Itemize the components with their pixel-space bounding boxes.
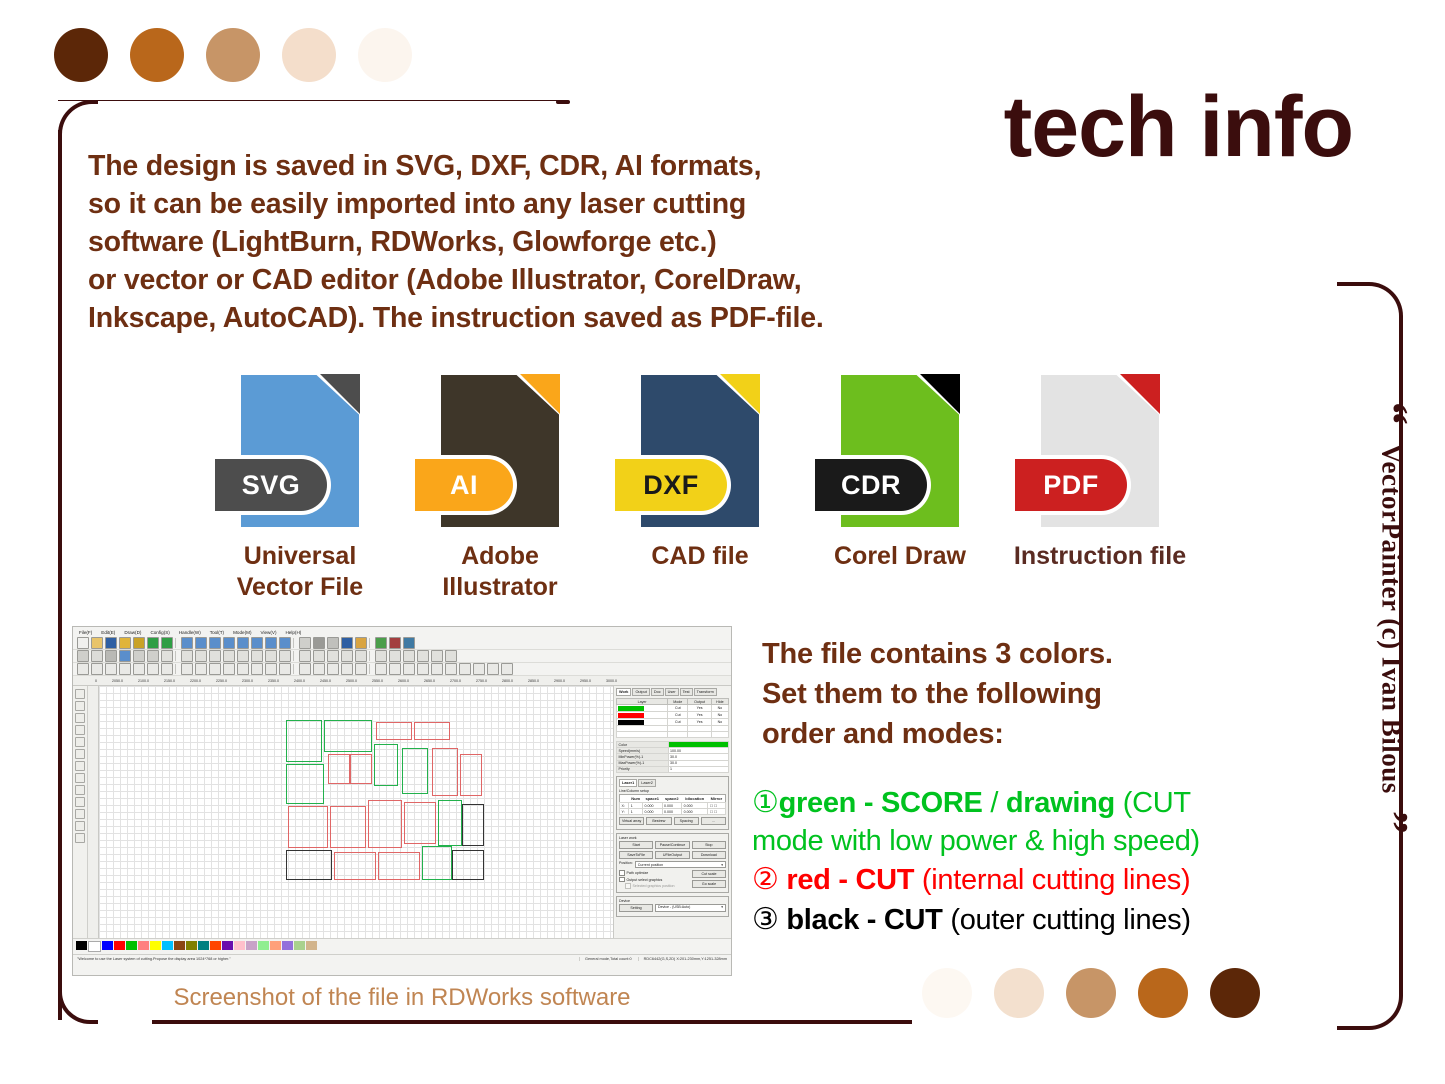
intro-line: or vector or CAD editor (Adobe Illustrat… [88,262,968,300]
toolbar-button[interactable] [195,637,207,649]
menu-item[interactable]: Edit(E) [101,630,115,635]
toolbar-button[interactable] [389,637,401,649]
menu-item[interactable]: Handle(W) [179,630,201,635]
color-mode-item: ② red - CUT (internal cutting lines) [752,860,1352,900]
layer-hide-cell[interactable]: No [711,712,728,719]
toolbar-button[interactable] [313,663,325,675]
toolbar-button[interactable] [209,650,221,662]
cut-scale-button[interactable]: Cut scale [692,870,726,878]
palette-color[interactable] [162,941,173,950]
axis-header [620,794,629,802]
menu-item[interactable]: File(F) [79,630,92,635]
intro-line: The design is saved in SVG, DXF, CDR, AI… [88,148,968,186]
quote-close-icon: ” [1373,811,1410,834]
canvas-tool-button[interactable] [75,821,85,831]
layer-table[interactable]: LayerModeOutputHide CutYesNoCutYesNoCutY… [616,698,729,738]
instructions-heading-line: Set them to the following [762,674,1362,714]
toolbar-separator [175,638,179,648]
palette-dot [1066,968,1116,1018]
file-format-label-line: Corel Draw [834,541,966,572]
rdworks-canvas[interactable] [99,686,613,938]
device-select[interactable]: Device - (USB:Auto)▾ [655,904,726,912]
palette-color[interactable] [88,941,101,952]
cdr-file-icon: CDR [841,375,959,527]
file-format-label: CAD file [651,541,748,572]
layer-color-swatch[interactable] [618,720,644,725]
toolbar-button[interactable] [237,637,249,649]
file-format-item: DXFCAD file [600,375,800,602]
toolbar-button[interactable] [105,637,117,649]
toolbar-button[interactable] [223,650,235,662]
selected-graphics-label: Selected graphics position [633,884,675,888]
toolbar-button[interactable] [313,637,325,649]
file-format-label-line: Vector File [237,572,363,603]
palette-color[interactable] [174,941,185,950]
canvas-tool-button[interactable] [75,809,85,819]
artwork-shape [422,846,452,880]
order-number: ③ [752,903,779,936]
work-button-start[interactable]: Start [619,841,653,849]
toolbar-button[interactable] [133,637,145,649]
canvas-tool-button[interactable] [75,785,85,795]
layer-properties-table[interactable]: Color Speed(mm/s)100.00MinPower(%)-130.0… [616,741,729,773]
frame-top-cap [556,100,570,104]
color-mode-item: ③ black - CUT (outer cutting lines) [752,900,1352,940]
toolbar-button[interactable] [223,637,235,649]
toolbar-button[interactable] [355,663,367,675]
screenshot-caption: Screenshot of the file in RDWorks softwa… [72,984,732,1012]
output-select-label: Output select graphics [627,878,663,882]
work-button-ufileoutput[interactable]: UFileOutput [655,851,689,859]
path-optimize-checkbox[interactable]: Path optimize [619,870,689,876]
toolbar-button[interactable] [161,637,173,649]
palette-dot [358,28,412,82]
output-select-graphics-checkbox[interactable]: Output select graphics [619,877,689,883]
rdworks-toolbar-draw[interactable] [73,650,731,663]
ruler-tick: 2600.0 [398,679,409,683]
palette-color[interactable] [222,941,233,950]
toolbar-button[interactable] [327,663,339,675]
toolbar-button[interactable] [181,663,193,675]
palette-color[interactable] [138,941,149,950]
toolbar-button[interactable] [77,650,89,662]
linecolumn-bilocation-cell[interactable]: 0.000 [682,809,708,815]
canvas-tool-button[interactable] [75,773,85,783]
layer-row[interactable]: CutYesNo [617,705,729,712]
ruler-tick: 2350.0 [268,679,279,683]
artwork-shape [432,748,458,796]
palette-color[interactable] [198,941,209,950]
toolbar-button[interactable] [403,650,415,662]
rdworks-vertical-ruler [88,686,99,938]
design-artwork[interactable] [284,714,484,849]
line-column-title: Line/Column setup [619,789,726,793]
toolbar-button[interactable] [389,663,401,675]
linecolumn-button[interactable]: Spacing [674,817,699,825]
toolbar-button[interactable] [181,650,193,662]
artwork-shape [402,748,428,794]
palette-color[interactable] [234,941,245,950]
toolbar-button[interactable] [105,650,117,662]
linecolumn-header: bilocation [682,794,708,802]
go-scale-button[interactable]: Go scale [692,880,726,888]
layer-mode-cell[interactable]: Cut [668,712,688,719]
toolbar-button[interactable] [265,637,277,649]
rdworks-horizontal-ruler: 02050.02100.02150.02200.02250.02300.0235… [73,676,731,686]
device-panel[interactable]: Device Setting Device - (USB:Auto)▾ [616,896,729,917]
layer-output-cell[interactable]: Yes [688,712,711,719]
toolbar-button[interactable] [431,663,443,675]
property-value[interactable]: 1 [668,766,728,772]
toolbar-button[interactable] [445,650,457,662]
linecolumn-header: space2 [662,794,682,802]
toolbar-button[interactable] [355,637,367,649]
artwork-shape [328,754,350,784]
linecolumn-header: Num [629,794,643,802]
credit-sidebar: “ VectorPainter (c) Ivan Bilous ” [1371,318,1411,918]
mode-note: (outer cutting lines) [943,904,1191,936]
toolbar-button[interactable] [265,663,277,675]
toolbar-separator [369,664,373,674]
palette-dot [130,28,184,82]
svg-file-icon: SVG [241,375,359,527]
intro-line: software (LightBurn, RDWorks, Glowforge … [88,224,968,262]
toolbar-button[interactable] [119,663,131,675]
mirror-checkboxes[interactable]: ☐ ☐ [708,809,726,815]
palette-color[interactable] [246,941,257,950]
palette-dot [1138,968,1188,1018]
frame-bottom-edge [152,1020,912,1024]
toolbar-button[interactable] [341,637,353,649]
toolbar-button[interactable] [501,663,513,675]
ruler-tick: 2850.0 [528,679,539,683]
canvas-tool-button[interactable] [75,833,85,843]
selected-graphics-position-checkbox[interactable]: Selected graphics position [619,883,689,889]
instructions-heading-line: The file contains 3 colors. [762,634,1362,674]
toolbar-button[interactable] [181,637,193,649]
palette-color[interactable] [114,941,125,950]
toolbar-button[interactable] [265,650,277,662]
canvas-tool-button[interactable] [75,701,85,711]
toolbar-button[interactable] [119,650,131,662]
work-button-download[interactable]: Download [692,851,726,859]
canvas-tool-button[interactable] [75,725,85,735]
ruler-tick: 2900.0 [554,679,565,683]
toolbar-button[interactable] [237,650,249,662]
artwork-shape [460,754,482,796]
layer-mode-cell[interactable]: Cut [668,705,688,712]
toolbar-button[interactable] [279,637,291,649]
artwork-shape [350,754,372,784]
pdf-file-icon: PDF [1041,375,1159,527]
ruler-tick: 2050.0 [112,679,123,683]
line-column-table[interactable]: Numspace1space2bilocationMirror X:10.000… [619,794,726,815]
toolbar-button[interactable] [105,663,117,675]
toolbar-separator [293,638,297,648]
work-button-savetofile[interactable]: SaveToFile [619,851,653,859]
artwork-shape [286,850,332,880]
linecolumn-axis-cell[interactable]: Y: [620,809,629,815]
toolbar-button[interactable] [375,637,387,649]
rdworks-statusbar: "Welcome to use the Laser system of cutt… [73,954,731,962]
layer-color-swatch[interactable] [618,706,644,711]
rdworks-toolbar-main[interactable] [73,637,731,650]
color-mode-item-continued: mode with low power & high speed) [752,823,1352,861]
toolbar-button[interactable] [237,663,249,675]
palette-color[interactable] [210,941,221,950]
line-column-setup-panel[interactable]: Laser1Laser2 Line/Column setup Numspace1… [616,776,729,830]
palette-dot [1210,968,1260,1018]
menu-item[interactable]: Config(S) [150,630,169,635]
menu-item[interactable]: Draw(D) [124,630,141,635]
toolbar-button[interactable] [209,663,221,675]
layer-row-empty [617,732,729,738]
intro-paragraph: The design is saved in SVG, DXF, CDR, AI… [88,148,968,337]
toolbar-button[interactable] [251,637,263,649]
file-extension-badge: SVG [215,459,327,511]
menu-item[interactable]: Tool(T) [210,630,224,635]
linecolumn-num-cell[interactable]: 1 [629,809,643,815]
file-format-item: SVGUniversalVector File [200,375,400,602]
toolbar-button[interactable] [417,663,429,675]
rdworks-right-panel[interactable]: WorkOutputDocUserTestTransform LayerMode… [613,686,731,938]
frame-top-edge [58,100,568,101]
panel-tab-test[interactable]: Test [680,688,693,696]
laser-tab-1[interactable]: Laser1 [619,779,637,787]
ruler-tick: 2650.0 [424,679,435,683]
toolbar-button[interactable] [91,650,103,662]
canvas-tool-button[interactable] [75,797,85,807]
canvas-tool-button[interactable] [75,689,85,699]
rdworks-panel-tabs[interactable]: WorkOutputDocUserTestTransform [616,688,729,696]
file-format-label-line: Universal [237,541,363,572]
artwork-shape [462,804,484,846]
intro-line: Inkscape, AutoCAD). The instruction save… [88,300,968,338]
toolbar-button[interactable] [251,650,263,662]
linecolumn-header: space1 [642,794,662,802]
toolbar-button[interactable] [445,663,457,675]
layer-output-cell[interactable]: Yes [688,719,711,726]
toolbar-button[interactable] [195,663,207,675]
color-mode-item: ①green - SCORE / drawing (CUT [752,783,1352,823]
linecolumn-header: Mirror [708,794,726,802]
toolbar-button[interactable] [91,637,103,649]
toolbar-button[interactable] [279,663,291,675]
toolbar-button[interactable] [147,663,159,675]
frame-right-top-cap [1337,282,1357,286]
status-device: RDC6442(G,S,2D) X:201-230mm,Y:1251-328mm [638,957,727,961]
file-format-label-line: CAD file [651,541,748,572]
toolbar-button[interactable] [403,663,415,675]
toolbar-button[interactable] [91,663,103,675]
file-extension-badge: CDR [815,459,927,511]
color-name: red - CUT [779,864,915,896]
toolbar-button[interactable] [487,663,499,675]
toolbar-button[interactable] [209,637,221,649]
artwork-shape [288,806,328,848]
palette-color[interactable] [306,941,317,950]
linecolumn-button[interactable]: Bestrew [646,817,671,825]
file-format-label-line: Instruction file [1014,541,1186,572]
toolbar-button[interactable] [161,650,173,662]
position-label: Position: [619,861,633,868]
palette-swatches-bottom [922,968,1260,1018]
layer-output-cell[interactable]: Yes [688,705,711,712]
layer-mode-cell[interactable]: Cut [668,719,688,726]
toolbar-button[interactable] [403,637,415,649]
toolbar-button[interactable] [279,650,291,662]
artwork-shape [286,764,324,804]
file-format-label: Corel Draw [834,541,966,572]
laser-work-panel[interactable]: Laser work StartPause/ContinueStop SaveT… [616,833,729,893]
toolbar-button[interactable] [327,637,339,649]
artwork-shape [286,720,322,762]
panel-tab-output[interactable]: Output [632,688,649,696]
file-format-label-line: Adobe [442,541,557,572]
laser-tabs[interactable]: Laser1Laser2 [619,779,726,787]
toolbar-button[interactable] [161,663,173,675]
file-format-label-line: Illustrator [442,572,557,603]
ruler-tick: 2450.0 [320,679,331,683]
menu-item[interactable]: Mode(M) [233,630,251,635]
artwork-shape [324,720,372,752]
panel-tab-work[interactable]: Work [616,688,631,696]
laser-work-title: Laser work [619,836,726,840]
toolbar-button[interactable] [313,650,325,662]
file-format-label: Instruction file [1014,541,1186,572]
empty-cell [711,732,728,738]
file-extension-badge: AI [415,459,513,511]
palette-dot [282,28,336,82]
toolbar-separator [293,664,297,674]
toolbar-button[interactable] [431,650,443,662]
palette-color[interactable] [186,941,197,950]
rdworks-screenshot: File(F)Edit(E)Draw(D)Config(S)Handle(W)T… [72,626,732,976]
file-format-item: AIAdobeIllustrator [400,375,600,602]
toolbar-button[interactable] [389,650,401,662]
canvas-tool-button[interactable] [75,713,85,723]
rdworks-menubar[interactable]: File(F)Edit(E)Draw(D)Config(S)Handle(W)T… [73,627,731,637]
ruler-tick: 2500.0 [346,679,357,683]
toolbar-button[interactable] [147,637,159,649]
toolbar-button[interactable] [133,650,145,662]
toolbar-button[interactable] [473,663,485,675]
layer-row[interactable]: CutYesNo [617,719,729,726]
linecolumn-space1-cell[interactable]: 0.000 [642,809,662,815]
canvas-tool-button[interactable] [75,737,85,747]
toolbar-button[interactable] [417,650,429,662]
rdworks-tool-palette[interactable] [73,686,88,938]
menu-item[interactable]: View(V) [260,630,276,635]
toolbar-separator [175,664,179,674]
mode-name: drawing [1006,787,1115,819]
laser-tab-2[interactable]: Laser2 [638,779,656,787]
toolbar-button[interactable] [223,663,235,675]
poster-stage: tech info The design is saved in SVG, DX… [0,0,1445,1084]
toolbar-button[interactable] [299,637,311,649]
canvas-tool-button[interactable] [75,761,85,771]
toolbar-button[interactable] [341,663,353,675]
toolbar-button[interactable] [133,663,145,675]
toolbar-button[interactable] [459,663,471,675]
canvas-tool-button[interactable] [75,749,85,759]
toolbar-button[interactable] [299,663,311,675]
panel-tab-user[interactable]: User [665,688,679,696]
property-row[interactable]: Priority1 [617,766,729,772]
ruler-tick: 2150.0 [164,679,175,683]
device-setting-button[interactable]: Setting [619,904,653,912]
work-button-stop[interactable]: Stop [692,841,726,849]
palette-color[interactable] [150,941,161,950]
toolbar-button[interactable] [195,650,207,662]
palette-color[interactable] [294,941,305,950]
rdworks-toolbar-align[interactable] [73,663,731,676]
palette-color[interactable] [102,941,113,950]
palette-color[interactable] [282,941,293,950]
file-format-label: UniversalVector File [237,541,363,602]
artwork-shape [378,852,420,880]
layer-hide-cell[interactable]: No [711,719,728,726]
toolbar-button[interactable] [119,637,131,649]
ruler-tick: 2700.0 [450,679,461,683]
rdworks-color-palette[interactable] [73,938,731,954]
layer-color-swatch[interactable] [618,713,644,718]
panel-tab-doc[interactable]: Doc [651,688,664,696]
mode-note: (CUT [1115,787,1191,819]
linecolumn-space2-cell[interactable]: 0.000 [662,809,682,815]
linecolumn-button[interactable]: Virtual array [619,817,644,825]
palette-dot [54,28,108,82]
toolbar-button[interactable] [375,663,387,675]
artwork-shape [404,802,436,844]
palette-color[interactable] [126,941,137,950]
toolbar-separator [175,651,179,661]
toolbar-separator [369,638,373,648]
toolbar-button[interactable] [355,650,367,662]
toolbar-button[interactable] [251,663,263,675]
linecolumn-row[interactable]: Y:10.0000.0000.000☐ ☐ [620,809,726,815]
ruler-tick: 2550.0 [372,679,383,683]
ruler-tick: 2950.0 [580,679,591,683]
palette-dot [206,28,260,82]
artwork-shape [414,722,450,740]
toolbar-button[interactable] [147,650,159,662]
palette-color[interactable] [76,941,87,950]
toolbar-button[interactable] [77,663,89,675]
position-select[interactable]: Current position▾ [635,861,726,868]
linecolumn-button[interactable]: ... [701,817,726,825]
toolbar-button[interactable] [327,650,339,662]
toolbar-button[interactable] [299,650,311,662]
chevron-down-icon: ▾ [721,863,723,867]
palette-color[interactable] [270,941,281,950]
toolbar-button[interactable] [375,650,387,662]
toolbar-button[interactable] [77,637,89,649]
toolbar-separator [369,651,373,661]
mode-note: (internal cutting lines) [914,864,1190,896]
ruler-tick: 2200.0 [190,679,201,683]
palette-color[interactable] [258,941,269,950]
panel-tab-transform[interactable]: Transform [694,688,717,696]
quote-open-icon: “ [1373,402,1410,425]
layer-hide-cell[interactable]: No [711,705,728,712]
menu-item[interactable]: Help(H) [285,630,301,635]
status-mode: General mode,Total count:0 [579,957,632,961]
toolbar-button[interactable] [341,650,353,662]
artwork-shape [330,806,366,848]
layer-row[interactable]: CutYesNo [617,712,729,719]
work-button-pause-continue[interactable]: Pause/Continue [655,841,689,849]
